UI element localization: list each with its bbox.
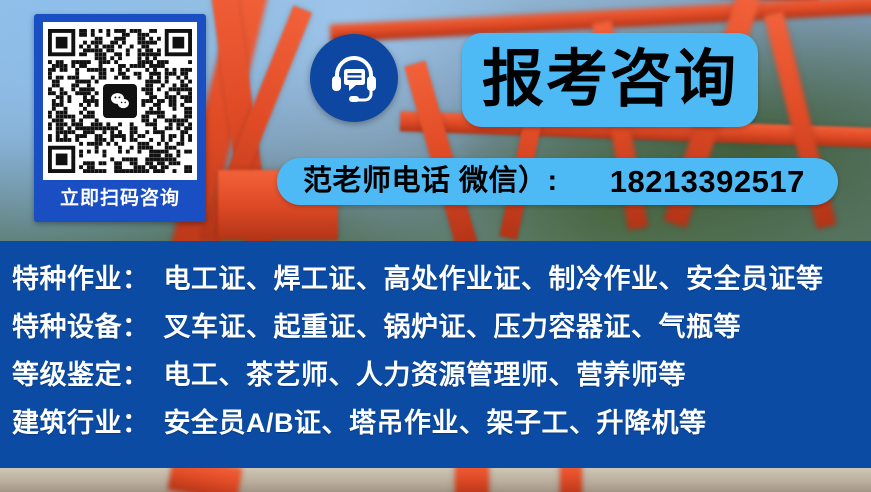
qr-code-frame	[43, 22, 197, 180]
service-row-special-operations: 特种作业： 电工证、焊工证、高处作业证、制冷作业、安全员证等	[0, 257, 871, 305]
title-badge-label: 报考咨询	[482, 49, 738, 111]
service-row-value: 叉车证、起重证、锅炉证、压力容器证、气瓶等	[164, 305, 742, 344]
service-row-construction-industry: 建筑行业： 安全员A/B证、塔吊作业、架子工、升降机等	[0, 401, 871, 449]
contact-label: 范老师电话 微信）:	[303, 167, 558, 196]
service-row-value: 安全员A/B证、塔吊作业、架子工、升降机等	[164, 401, 707, 440]
contact-number[interactable]: 18213392517	[610, 166, 805, 197]
qr-caption: 立即扫码咨询	[60, 189, 180, 208]
service-row-grade-assessment: 等级鉴定： 电工、茶艺师、人力资源管理师、营养师等	[0, 353, 871, 401]
qr-card[interactable]: 立即扫码咨询	[34, 14, 206, 222]
headset-support-icon	[310, 34, 398, 122]
bottom-photo-strip	[0, 468, 871, 492]
qr-code-image[interactable]	[48, 29, 192, 173]
wechat-icon	[103, 84, 137, 118]
service-row-value: 电工证、焊工证、高处作业证、制冷作业、安全员证等	[164, 257, 824, 296]
title-badge: 报考咨询	[462, 33, 758, 127]
services-panel: 特种作业： 电工证、焊工证、高处作业证、制冷作业、安全员证等 特种设备： 叉车证…	[0, 241, 871, 468]
service-row-label: 建筑行业：	[12, 401, 150, 440]
service-row-label: 特种设备：	[12, 305, 150, 344]
service-row-special-equipment: 特种设备： 叉车证、起重证、锅炉证、压力容器证、气瓶等	[0, 305, 871, 353]
contact-badge[interactable]: 范老师电话 微信）: 18213392517	[277, 158, 838, 205]
service-row-label: 特种作业：	[12, 257, 150, 296]
promo-poster: 立即扫码咨询 报考咨询 范老师电话 微信）: 18213392517 特种作业：…	[0, 0, 871, 492]
service-row-value: 电工、茶艺师、人力资源管理师、营养师等	[164, 353, 687, 392]
service-row-label: 等级鉴定：	[12, 353, 150, 392]
